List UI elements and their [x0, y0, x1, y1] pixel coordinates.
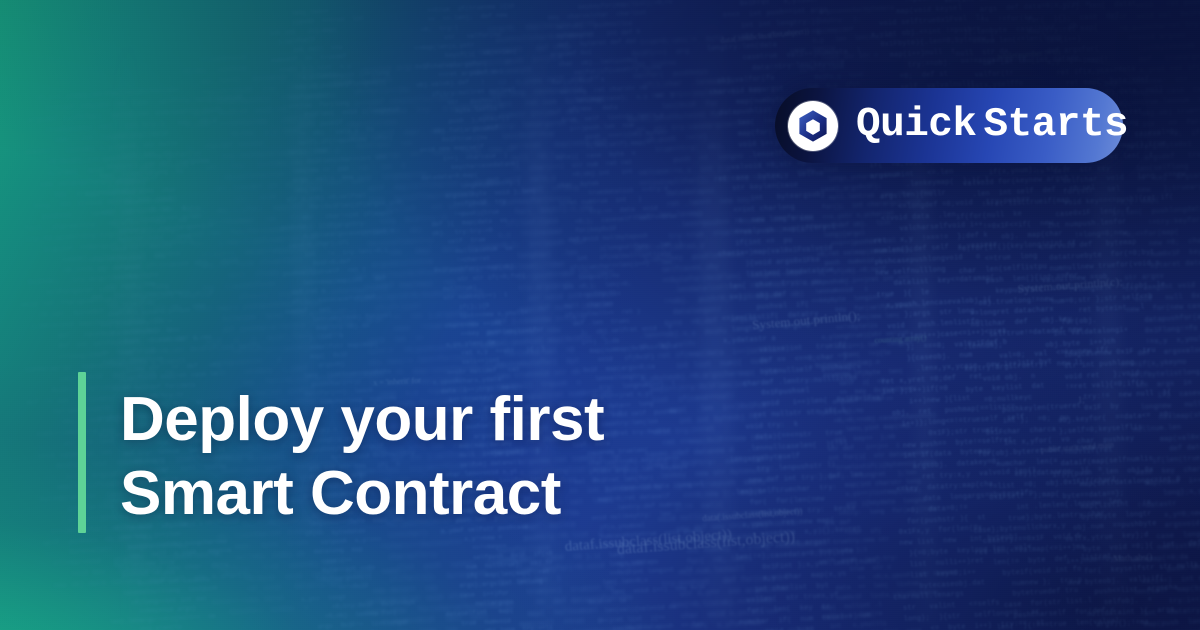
page-title: Deploy your first Smart Contract: [120, 383, 820, 531]
page-title-line-2: Smart Contract: [120, 457, 820, 531]
badge-label-secondary: Starts: [984, 102, 1129, 148]
quickstarts-badge[interactable]: QuickStarts: [775, 88, 1123, 163]
badge-label-primary: Quick: [856, 102, 977, 148]
quickstarts-badge-label: QuickStarts: [856, 105, 1128, 146]
chainlink-hexagon-icon: [788, 101, 838, 151]
page-title-line-1: Deploy your first: [120, 383, 820, 457]
green-accent-bar: [78, 372, 86, 533]
social-banner: =0;};x,ynum};selfnull<=if(for(str listde…: [0, 0, 1200, 630]
